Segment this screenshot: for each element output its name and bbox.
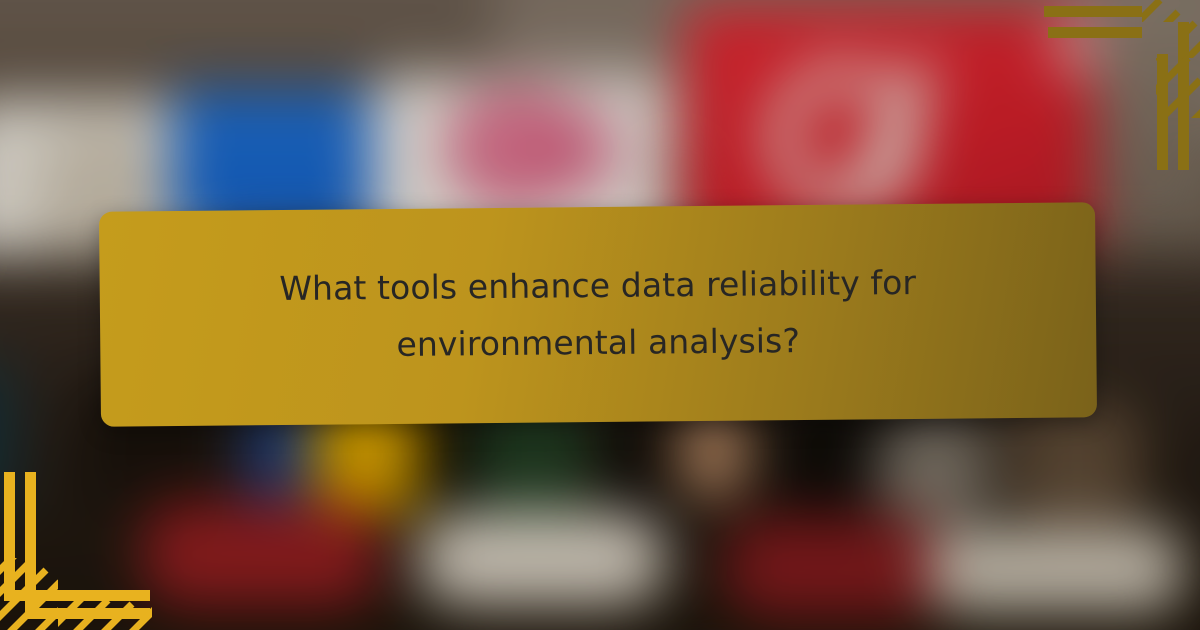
question-text: What tools enhance data reliability for … (252, 254, 943, 374)
poster-canvas: What tools enhance data reliability for … (0, 0, 1200, 630)
question-card: What tools enhance data reliability for … (99, 202, 1097, 427)
